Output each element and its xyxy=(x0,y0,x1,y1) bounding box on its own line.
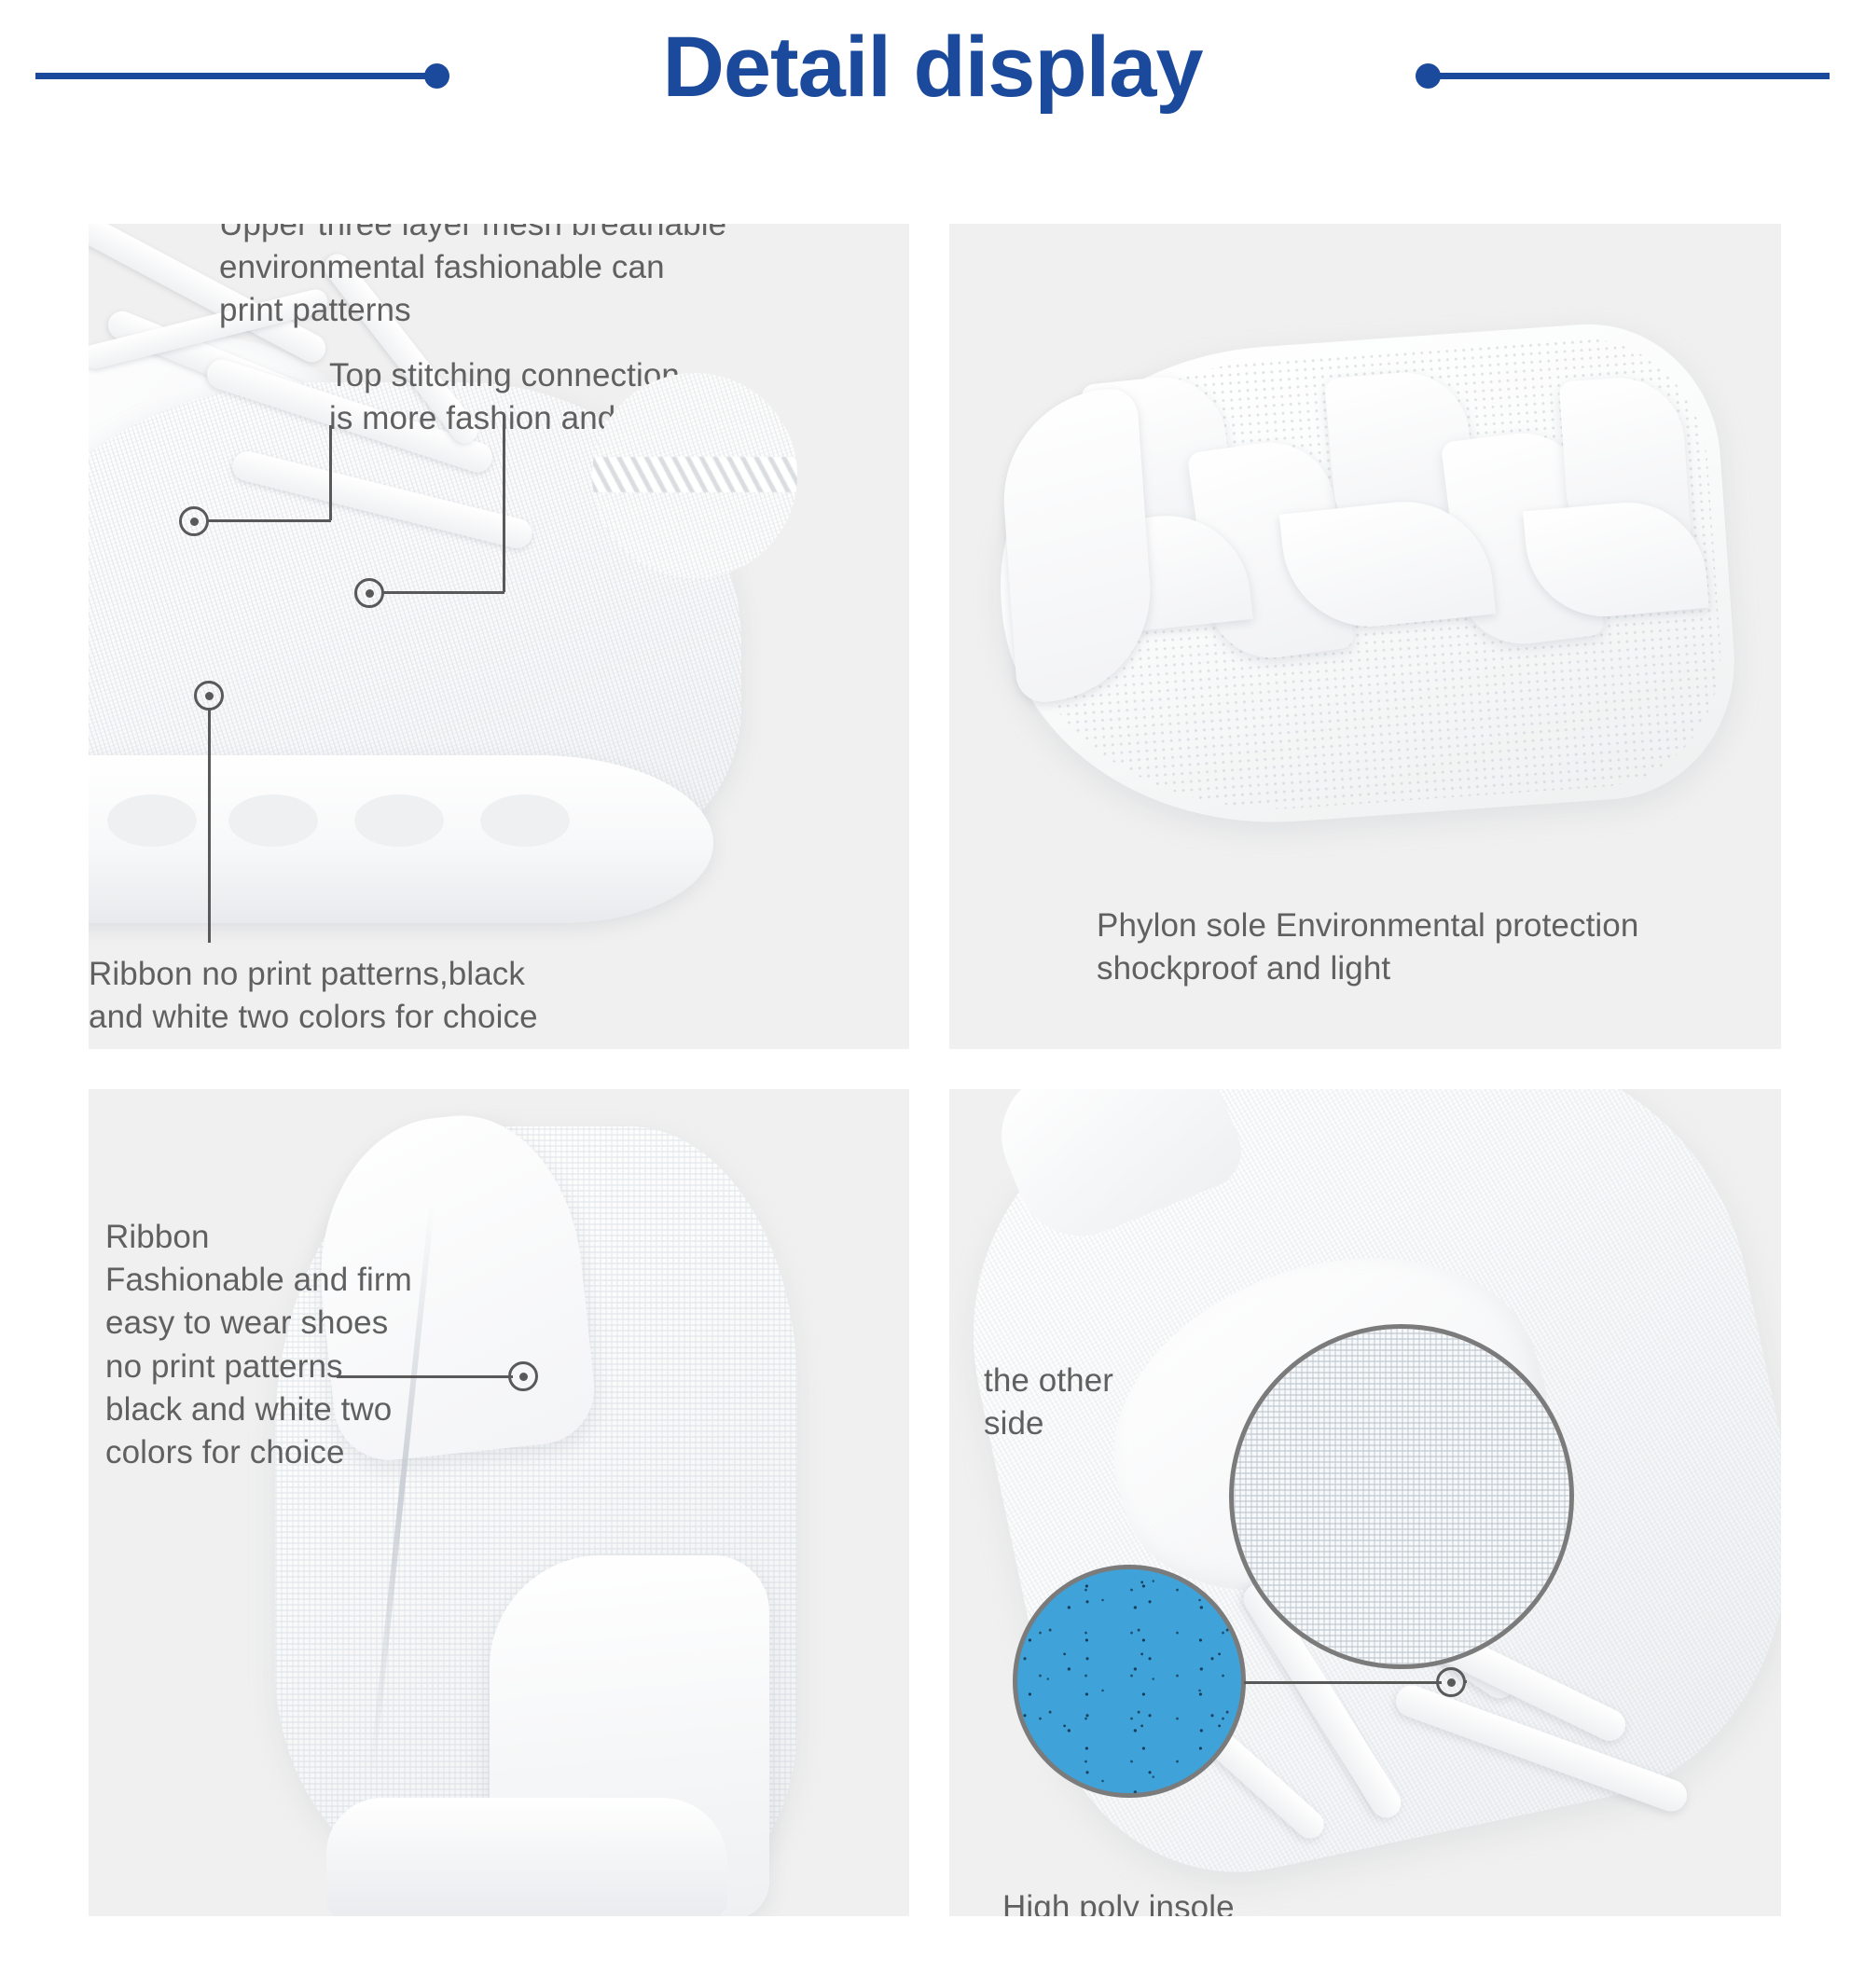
zoom-circle-stitched-mesh xyxy=(592,373,797,578)
callout-marker-stitching-upper[interactable] xyxy=(179,506,209,536)
callout-marker-ribbon[interactable] xyxy=(194,681,224,711)
caption-upper-mesh: Upper three layer mesh breathable enviro… xyxy=(219,224,797,333)
header-rule-right-line xyxy=(1429,73,1830,79)
callout-marker-ribbon-detail[interactable] xyxy=(508,1361,538,1391)
caption-phylon-sole: Phylon sole Environmental protection sho… xyxy=(1097,904,1781,990)
zoom-circle-blue-insole xyxy=(1013,1565,1246,1798)
callout-line-ribbon-detail xyxy=(337,1375,513,1378)
panel-heel-ribbon: Ribbon Fashionable and firm easy to wear… xyxy=(89,1089,909,1916)
caption-ribbon-detail: Ribbon Fashionable and firm easy to wear… xyxy=(105,1216,516,1474)
callout-line-stitching-h xyxy=(208,519,331,522)
page-header: Detail display xyxy=(0,0,1865,159)
callout-line-insole-upper xyxy=(1465,1680,1467,1683)
page-title: Detail display xyxy=(0,19,1865,117)
callout-line-ribbon-v xyxy=(208,710,211,943)
caption-high-poly-insole: High poly insole Breathable Deodorant xyxy=(1002,1886,1394,1916)
shoe-photo-heel-ribbon xyxy=(89,1089,909,1916)
caption-ribbon-colors: Ribbon no print patterns,black and white… xyxy=(89,953,667,1039)
callout-marker-stitching-lower[interactable] xyxy=(354,578,384,608)
header-rule-right-dot xyxy=(1416,63,1441,89)
callout-line-stitching-lower-v xyxy=(503,415,505,592)
callout-line-stitching-v xyxy=(329,425,332,520)
caption-other-side: the other side xyxy=(984,1360,1217,1445)
panel-insole: the other side High poly insole Breathab… xyxy=(949,1089,1781,1916)
panel-upper-mesh: Upper three layer mesh breathable enviro… xyxy=(89,224,909,1049)
detail-panel-grid: Upper three layer mesh breathable enviro… xyxy=(89,224,1781,1916)
callout-marker-insole[interactable] xyxy=(1436,1667,1466,1697)
panel-phylon-sole: Phylon sole Environmental protection sho… xyxy=(949,224,1781,1049)
callout-line-insole xyxy=(1244,1681,1442,1684)
zoom-circle-mesh-fabric xyxy=(1229,1324,1574,1669)
callout-line-stitching-lower-h xyxy=(383,591,504,594)
shoe-photo-upper-side-view xyxy=(89,224,909,1049)
